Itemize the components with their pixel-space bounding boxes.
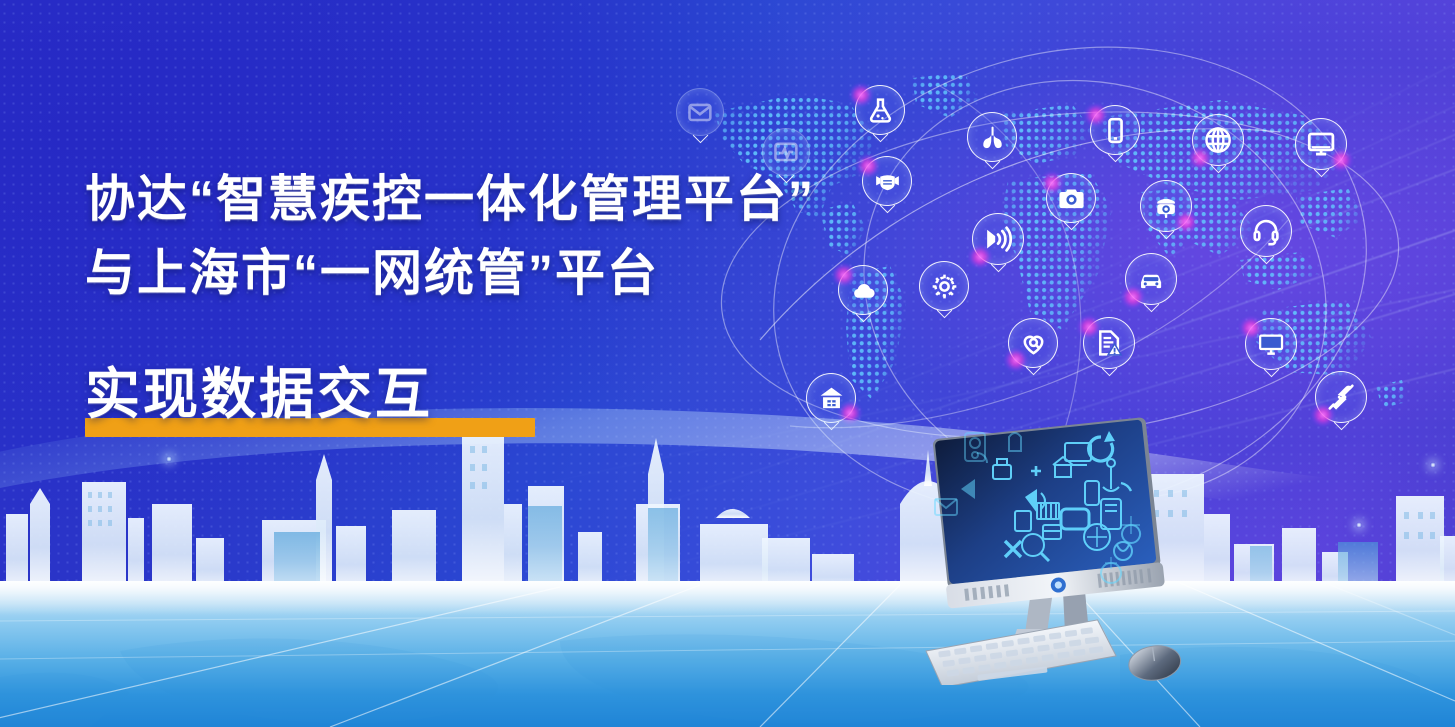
car-icon-glyph — [1136, 264, 1166, 294]
lab-flask-icon-glyph — [866, 96, 895, 125]
heart-monitor-icon[interactable] — [1008, 318, 1058, 368]
mobile-phone-icon[interactable] — [1090, 105, 1140, 155]
banner-stage: 协达“智慧疾控一体化管理平台” 与上海市“一网统管”平台 实现数据交互 — [0, 0, 1455, 727]
headset-icon[interactable] — [1240, 205, 1292, 257]
car-icon[interactable] — [1125, 253, 1177, 305]
headset-icon-glyph — [1251, 216, 1281, 246]
all-in-one-desktop-computer — [905, 415, 1215, 685]
computer-display-icon-glyph — [1256, 329, 1286, 359]
heart-monitor-icon-glyph — [1019, 329, 1048, 358]
perspective-ground-plane — [0, 581, 1455, 727]
camera-icon-glyph — [1057, 184, 1086, 213]
subtitle-block: 实现数据交互 — [85, 352, 433, 436]
camera-icon[interactable] — [1046, 173, 1096, 223]
headline-line-2: 与上海市“一网统管”平台 — [85, 236, 945, 310]
wifi-signal-icon[interactable] — [972, 213, 1024, 265]
computer-display-icon[interactable] — [1245, 318, 1297, 370]
lungs-icon-glyph — [978, 123, 1007, 152]
lab-flask-icon[interactable] — [855, 85, 905, 135]
desktop-monitor-icon[interactable] — [1295, 118, 1347, 170]
desktop-monitor-icon-glyph — [1306, 129, 1336, 159]
security-camera-icon[interactable] — [1140, 180, 1192, 232]
security-camera-icon-glyph — [1151, 191, 1181, 221]
document-alert-icon[interactable] — [1083, 317, 1135, 369]
headline: 协达“智慧疾控一体化管理平台” 与上海市“一网统管”平台 — [85, 162, 945, 310]
globe-icon-glyph — [1203, 125, 1233, 155]
ground-haze — [0, 581, 1455, 615]
envelope-icon[interactable] — [676, 88, 724, 136]
document-alert-icon-glyph — [1094, 328, 1124, 358]
subtitle-text: 实现数据交互 — [85, 352, 433, 436]
headline-line-1: 协达“智慧疾控一体化管理平台” — [85, 162, 945, 236]
envelope-icon-glyph — [686, 98, 714, 126]
globe-icon[interactable] — [1192, 114, 1244, 166]
mobile-phone-icon-glyph — [1101, 116, 1130, 145]
lungs-icon[interactable] — [967, 112, 1017, 162]
wifi-signal-icon-glyph — [983, 224, 1013, 254]
